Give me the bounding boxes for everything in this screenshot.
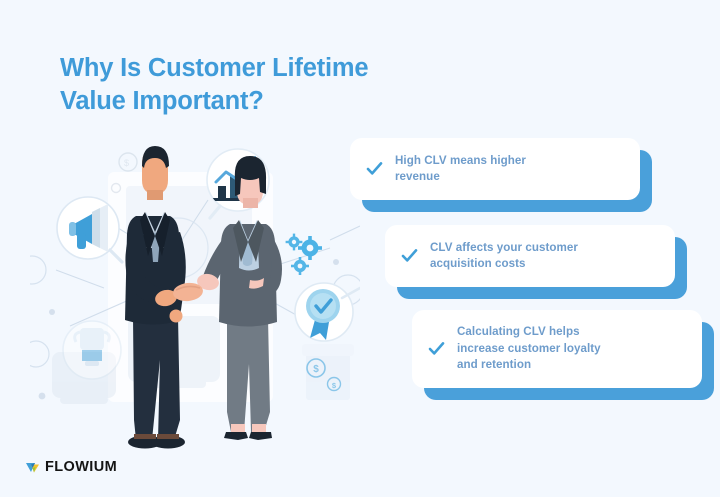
card-text-line-3: and retention — [457, 358, 531, 371]
business-handshake-illustration: $ — [30, 120, 360, 450]
flowium-wordmark: FLOWIUM — [45, 459, 117, 475]
card-text: CLV affects your customer acquisition co… — [430, 240, 578, 273]
card-text-line-2: acquisition costs — [430, 257, 526, 270]
benefit-card-revenue[interactable]: High CLV means higher revenue — [350, 138, 640, 200]
card-body: High CLV means higher revenue — [350, 138, 640, 200]
benefit-card-loyalty-retention[interactable]: Calculating CLV helps increase customer … — [412, 310, 702, 388]
trophy-icon — [63, 321, 121, 379]
flowium-logo[interactable]: FLOWIUM — [26, 459, 117, 475]
gears-icon — [286, 234, 322, 275]
check-icon — [366, 160, 383, 177]
svg-text:$: $ — [124, 158, 129, 168]
card-text-line-1: Calculating CLV helps — [457, 325, 580, 338]
card-body: Calculating CLV helps increase customer … — [412, 310, 702, 388]
card-text: High CLV means higher revenue — [395, 153, 526, 186]
svg-text:$: $ — [313, 364, 319, 375]
check-icon — [401, 247, 418, 264]
title-line-1: Why Is Customer Lifetime — [60, 54, 368, 82]
page-title: Why Is Customer Lifetime Value Important… — [60, 52, 480, 117]
award-ribbon-check-icon — [295, 283, 360, 341]
card-text-line-1: High CLV means higher — [395, 154, 526, 167]
title-line-2: Value Important? — [60, 85, 480, 118]
card-body: CLV affects your customer acquisition co… — [385, 225, 675, 287]
card-text-line-2: increase customer loyalty — [457, 342, 601, 355]
benefit-card-acquisition-costs[interactable]: CLV affects your customer acquisition co… — [385, 225, 675, 287]
infographic-canvas: $ — [0, 0, 720, 497]
card-text-line-2: revenue — [395, 170, 440, 183]
flowium-arrow-mark-icon — [26, 461, 42, 474]
card-text-line-1: CLV affects your customer — [430, 241, 578, 254]
card-text: Calculating CLV helps increase customer … — [457, 324, 601, 374]
check-icon — [428, 340, 445, 357]
